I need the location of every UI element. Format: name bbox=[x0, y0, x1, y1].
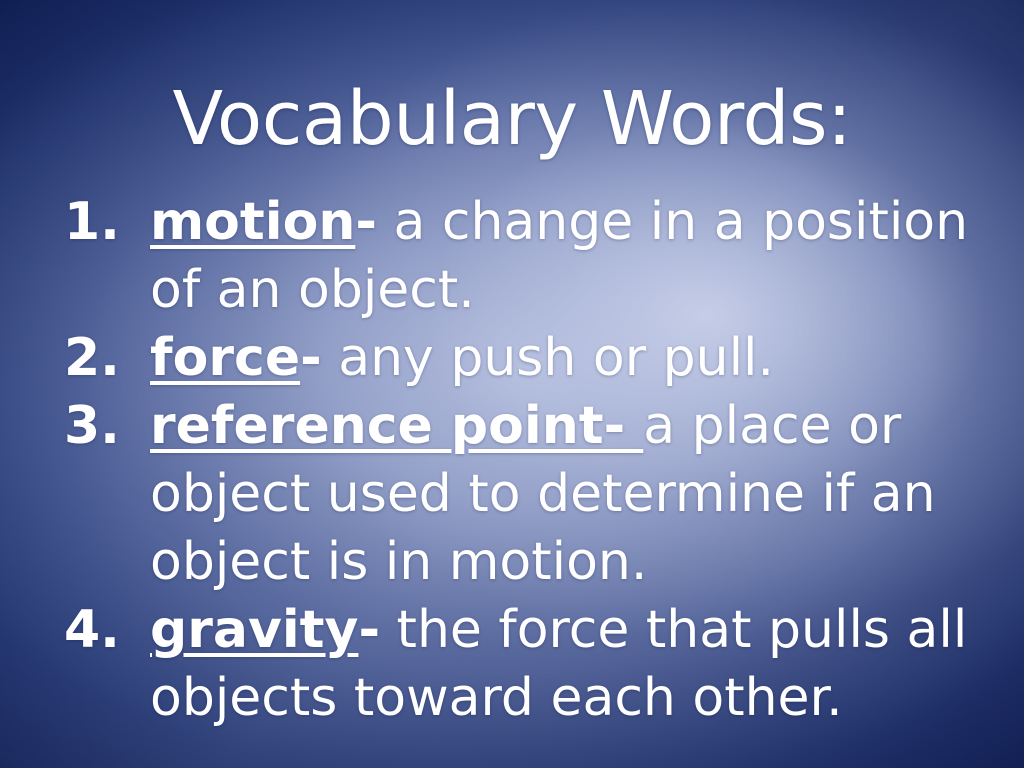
list-item-number: 4. bbox=[64, 596, 122, 664]
list-item: 2.force- any push or pull. bbox=[60, 324, 1016, 392]
list-item-number: 2. bbox=[64, 324, 122, 392]
list-item-number: 3. bbox=[64, 392, 122, 460]
vocabulary-term: motion bbox=[150, 192, 355, 252]
slide-title: Vocabulary Words: bbox=[0, 82, 1024, 156]
vocabulary-term: reference point- bbox=[150, 396, 643, 456]
list-item: 3.reference point- a place or object use… bbox=[60, 392, 1016, 596]
vocabulary-list: 1.motion- a change in a position of an o… bbox=[60, 188, 1016, 732]
list-item-number: 1. bbox=[64, 188, 122, 256]
vocabulary-term: gravity bbox=[150, 600, 358, 660]
vocabulary-definition: any push or pull. bbox=[322, 328, 774, 388]
term-dash: - bbox=[300, 328, 322, 388]
term-dash: - bbox=[358, 600, 380, 660]
slide-canvas: Vocabulary Words: 1.motion- a change in … bbox=[0, 0, 1024, 768]
slide-content: Vocabulary Words: 1.motion- a change in … bbox=[0, 0, 1024, 768]
term-dash: - bbox=[355, 192, 377, 252]
vocabulary-term: force bbox=[150, 328, 300, 388]
list-item: 1.motion- a change in a position of an o… bbox=[60, 188, 1016, 324]
list-item: 4.gravity- the force that pulls all obje… bbox=[60, 596, 1016, 732]
